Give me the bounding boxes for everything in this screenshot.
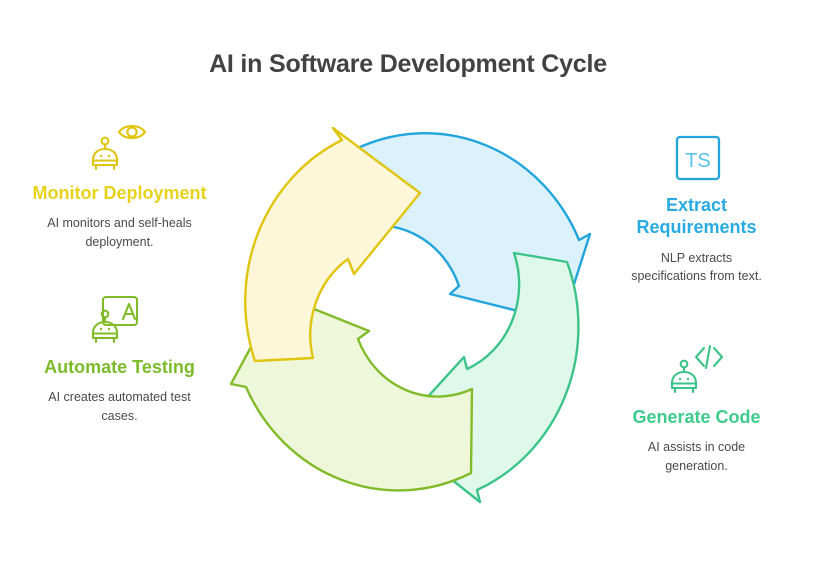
node-generate-title: Generate Code — [607, 406, 787, 428]
robot-eye-icon — [12, 118, 227, 176]
ts-box-icon: TS — [589, 130, 804, 188]
node-monitor-description: AI monitors and self-heals deployment. — [44, 214, 196, 252]
node-extract-title: Extract Requirements — [607, 194, 787, 239]
node-generate-code[interactable]: Generate Code AI assists in code generat… — [589, 342, 804, 476]
node-generate-description: AI assists in code generation. — [627, 438, 767, 476]
ts-icon-label: TS — [685, 150, 711, 172]
robot-test-a-icon — [12, 292, 227, 350]
left-node-column: Monitor Deployment AI monitors and self-… — [12, 118, 227, 456]
node-testing-title: Automate Testing — [30, 356, 210, 378]
robot-code-icon — [589, 342, 804, 400]
node-automate-testing[interactable]: Automate Testing AI creates automated te… — [12, 292, 227, 426]
node-testing-description: AI creates automated test cases. — [44, 388, 196, 426]
node-monitor-deployment[interactable]: Monitor Deployment AI monitors and self-… — [12, 118, 227, 252]
cycle-diagram — [222, 112, 600, 509]
node-extract-description: NLP extracts specifications from text. — [627, 249, 767, 287]
right-node-column: TS Extract Requirements NLP extracts spe… — [589, 118, 804, 506]
node-extract-requirements[interactable]: TS Extract Requirements NLP extracts spe… — [589, 130, 804, 286]
node-monitor-title: Monitor Deployment — [30, 182, 210, 204]
page-title: AI in Software Development Cycle — [0, 50, 816, 79]
